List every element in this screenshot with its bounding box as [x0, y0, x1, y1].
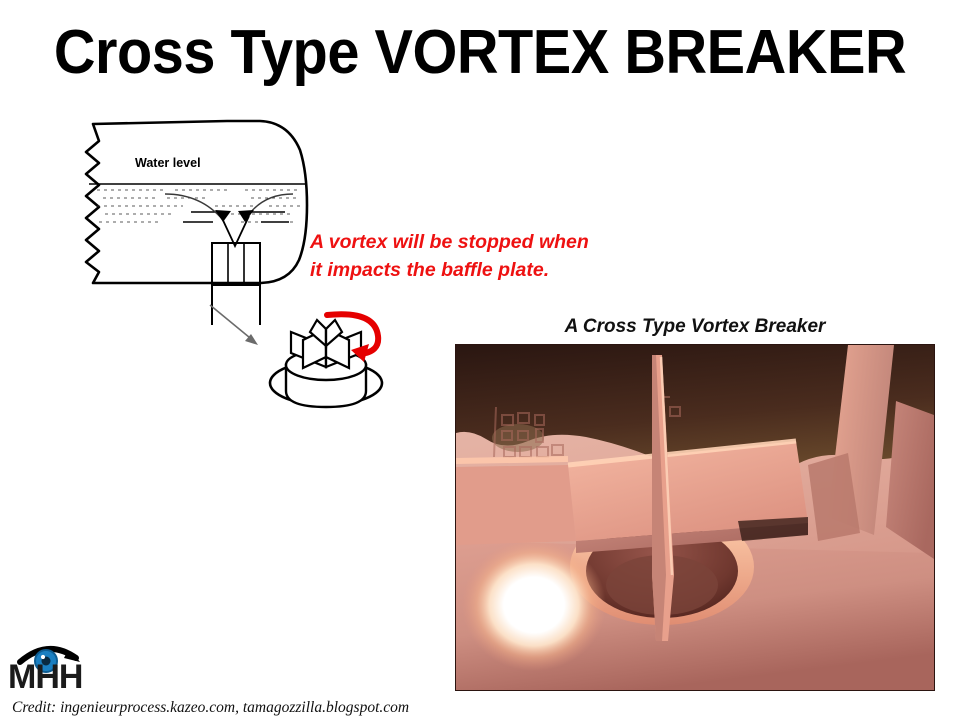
- mhh-wordmark: MHH: [8, 660, 82, 694]
- photo-caption: A Cross Type Vortex Breaker: [455, 314, 935, 340]
- vortex-annotation-line-1: A vortex will be stopped when: [310, 228, 640, 256]
- vortex-arrowhead-right: [238, 210, 254, 222]
- photo-baffle-plate-left-wing: [456, 465, 576, 545]
- pointer-arrow-line: [210, 305, 255, 342]
- vortex-arrow-left: [165, 194, 223, 220]
- tank-outline: [86, 121, 307, 283]
- water-hatching: [97, 190, 301, 222]
- water-level-label: Water level: [135, 156, 201, 170]
- credit-line: Credit: ingenieurprocess.kazeo.com, tama…: [12, 699, 409, 717]
- outlet-nozzle-body: [212, 243, 260, 285]
- photo-left-wing-highlight: [456, 459, 568, 461]
- page-title: Cross Type VORTEX BREAKER: [34, 18, 927, 88]
- vortex-breaker-photo: [455, 344, 935, 691]
- vortex-annotation: A vortex will be stopped when it impacts…: [310, 228, 640, 284]
- photo-light-glare: [462, 539, 606, 671]
- vortex-annotation-line-2: it impacts the baffle plate.: [310, 256, 640, 284]
